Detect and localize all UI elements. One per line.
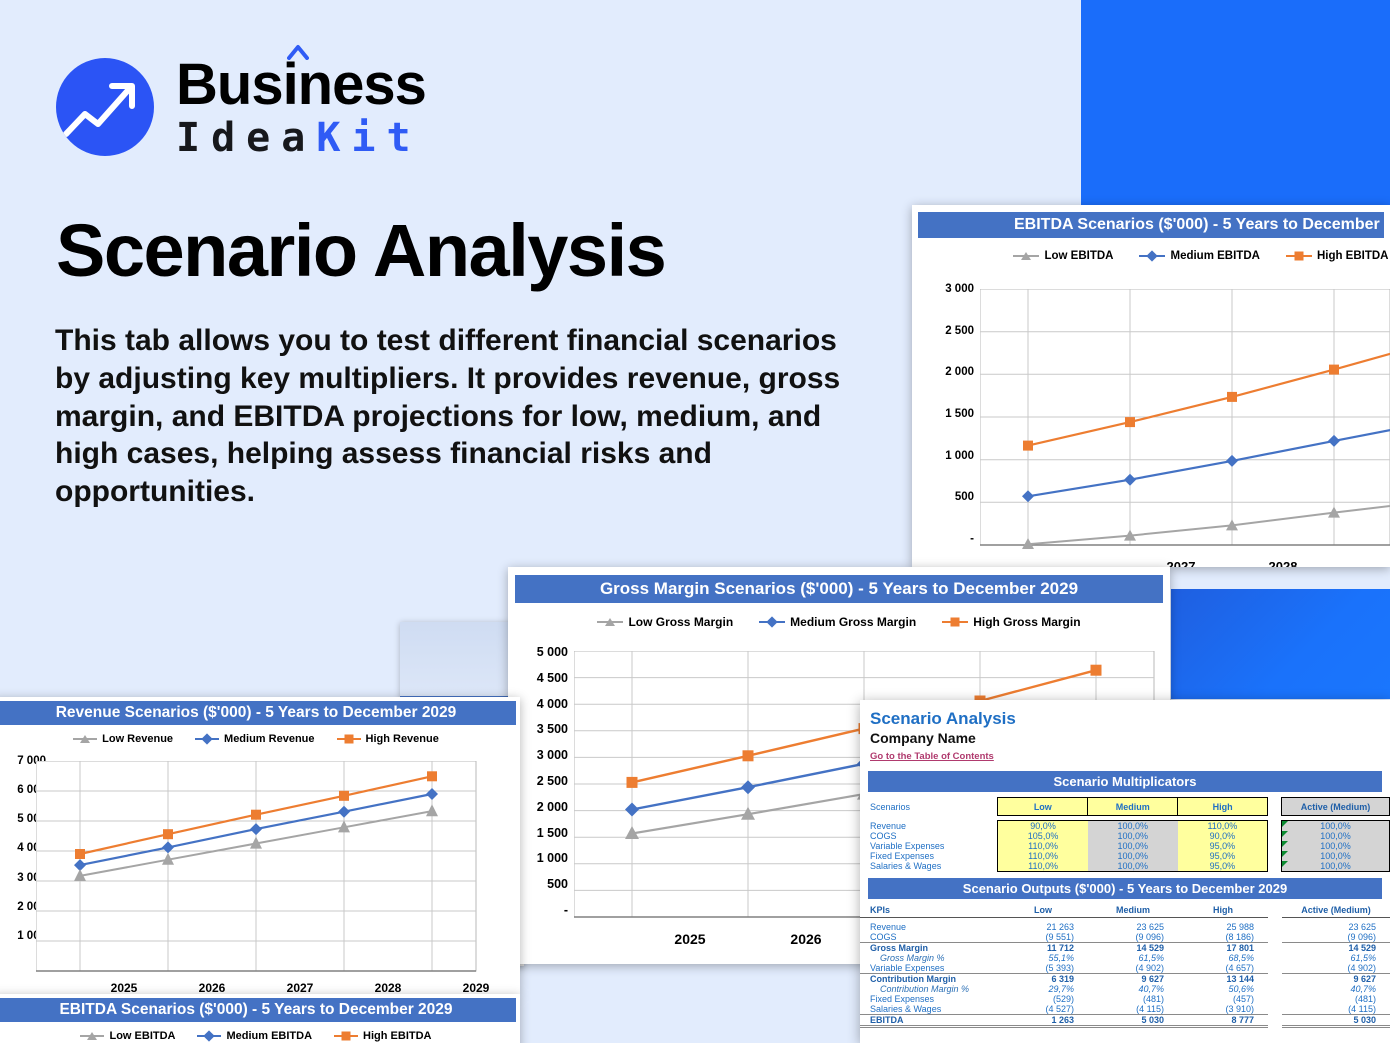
output-variable-expenses-medium: (4 902) [1088, 963, 1178, 974]
x-axis-ebitda-top: 2027 2028 [980, 559, 1390, 567]
multiplier-cogs-low[interactable]: 105,0% [998, 831, 1088, 841]
kpis-row-header: KPIs [860, 903, 998, 918]
decorative-blue-block-middle [1171, 589, 1390, 699]
table-row: EBITDA 1 263 5 030 8 777 5 030 [860, 1014, 1390, 1026]
output-column-header-medium: Medium [1088, 903, 1178, 918]
table-row: Fixed Expenses (529) (481) (457) (481) [860, 994, 1390, 1004]
table-row: Salaries & Wages (4 527) (4 115) (3 910)… [860, 1004, 1390, 1015]
output-salaries-wages-high: (3 910) [1178, 1004, 1268, 1015]
legend-label: Medium Revenue [224, 733, 314, 745]
page-description: This tab allows you to test different fi… [55, 322, 855, 511]
legend-label: Low EBITDA [109, 1030, 175, 1042]
output-revenue-high: 25 988 [1178, 922, 1268, 932]
output-contribution-margin-medium: 9 627 [1088, 973, 1178, 984]
y-axis-ebitda-top: 3 0002 500 2 0001 500 1 000500 - [918, 283, 974, 545]
output-revenue-active: 23 625 [1282, 922, 1390, 932]
output-cogs-active: (9 096) [1282, 932, 1390, 943]
multiplier-revenue-high[interactable]: 110,0% [1178, 821, 1268, 832]
output-ebitda-low: 1 263 [998, 1014, 1088, 1026]
output-label-ebitda: EBITDA [860, 1014, 998, 1026]
table-row: Fixed Expenses 110,0% 100,0% 95,0% 100,0… [860, 851, 1390, 861]
multiplier-variable-expenses-active: 100,0% [1282, 841, 1390, 851]
table-row: Gross Margin % 55,1% 61,5% 68,5% 61,5% [860, 953, 1390, 963]
multiplier-cogs-medium[interactable]: 100,0% [1088, 831, 1178, 841]
scenario-analysis-panel: Scenario Analysis Company Name Go to the… [860, 700, 1390, 1043]
output-label-revenue: Revenue [860, 922, 998, 932]
multiplier-fixed-expenses-active: 100,0% [1282, 851, 1390, 861]
scenario-multiplicators-table: Scenarios Low Medium High Active (Medium… [860, 797, 1390, 872]
output-ebitda-high: 8 777 [1178, 1014, 1268, 1026]
chart-legend-revenue: Low Revenue Medium Revenue High Revenue [0, 733, 520, 745]
table-row-header: KPIs Low Medium High Active (Medium) [860, 903, 1390, 918]
legend-label: Medium EBITDA [1170, 250, 1259, 262]
chart-legend-ebitda-bottom: Low EBITDA Medium EBITDA High EBITDA [0, 1030, 520, 1042]
row-label-fixed-expenses: Fixed Expenses [860, 851, 998, 861]
brand-logo: Business IdeaKit [56, 56, 426, 158]
multiplier-fixed-expenses-high[interactable]: 95,0% [1178, 851, 1268, 861]
plot-area-revenue: 7 0006 000 5 0004 000 3 0002 000 1 000- [0, 749, 520, 994]
multiplier-salaries-wages-medium[interactable]: 100,0% [1088, 861, 1178, 872]
output-cogs-medium: (9 096) [1088, 932, 1178, 943]
brand-name-line1: Business [176, 52, 426, 117]
multiplier-cogs-high[interactable]: 90,0% [1178, 831, 1268, 841]
row-label-salaries-wages: Salaries & Wages [860, 861, 998, 872]
output-salaries-wages-active: (4 115) [1282, 1004, 1390, 1015]
brand-name-kit: Kit [316, 115, 421, 161]
output-gross-margin-pct-high: 68,5% [1178, 953, 1268, 963]
legend-label: High Gross Margin [973, 615, 1080, 629]
scenario-panel-company: Company Name [870, 730, 1390, 746]
output-label-cogs: COGS [860, 932, 998, 943]
multiplier-fixed-expenses-low[interactable]: 110,0% [998, 851, 1088, 861]
output-contribution-margin-pct-medium: 40,7% [1088, 984, 1178, 994]
output-cogs-low: (9 551) [998, 932, 1088, 943]
output-column-header-active: Active (Medium) [1282, 903, 1390, 918]
scenario-multiplicators-band: Scenario Multiplicators [868, 771, 1382, 792]
output-fixed-expenses-medium: (481) [1088, 994, 1178, 1004]
output-gross-margin-high: 17 801 [1178, 942, 1268, 953]
output-gross-margin-pct-active: 61,5% [1282, 953, 1390, 963]
legend-item-low-ebitda-bottom[interactable]: Low EBITDA [80, 1030, 175, 1042]
slide-canvas: Business IdeaKit Scenario Analysis This … [0, 0, 1390, 1043]
output-contribution-margin-pct-high: 50,6% [1178, 984, 1268, 994]
output-ebitda-active: 5 030 [1282, 1014, 1390, 1026]
output-variable-expenses-high: (4 657) [1178, 963, 1268, 974]
output-cogs-high: (8 186) [1178, 932, 1268, 943]
multiplier-variable-expenses-medium[interactable]: 100,0% [1088, 841, 1178, 851]
output-contribution-margin-pct-active: 40,7% [1282, 984, 1390, 994]
multiplier-variable-expenses-low[interactable]: 110,0% [998, 841, 1088, 851]
multiplier-revenue-medium[interactable]: 100,0% [1088, 821, 1178, 832]
output-label-variable-expenses: Variable Expenses [860, 963, 998, 974]
output-gross-margin-low: 11 712 [998, 942, 1088, 953]
output-variable-expenses-active: (4 902) [1282, 963, 1390, 974]
legend-label: High EBITDA [363, 1030, 431, 1042]
output-revenue-low: 21 263 [998, 922, 1088, 932]
output-salaries-wages-medium: (4 115) [1088, 1004, 1178, 1015]
table-of-contents-link[interactable]: Go to the Table of Contents [870, 751, 994, 762]
page-title: Scenario Analysis [56, 208, 665, 293]
scenario-outputs-table: KPIs Low Medium High Active (Medium) Rev… [860, 903, 1390, 1028]
row-label-revenue: Revenue [860, 821, 998, 832]
legend-item-medium-gross-margin[interactable]: Medium Gross Margin [759, 615, 916, 629]
output-salaries-wages-low: (4 527) [998, 1004, 1088, 1015]
y-axis-gross-margin: 5 0004 500 4 0003 500 3 0002 500 2 0001 … [512, 645, 568, 917]
scenario-outputs-band: Scenario Outputs ($'000) - 5 Years to De… [868, 878, 1382, 899]
chart-title-revenue: Revenue Scenarios ($'000) - 5 Years to D… [0, 701, 516, 725]
scenario-panel-title: Scenario Analysis [870, 709, 1390, 729]
background-panel-ghost [400, 622, 524, 700]
multiplier-revenue-low[interactable]: 90,0% [998, 821, 1088, 832]
output-column-header-low: Low [998, 903, 1088, 918]
output-contribution-margin-active: 9 627 [1282, 973, 1390, 984]
decorative-blue-block-top [1081, 0, 1390, 206]
chart-title-gross-margin: Gross Margin Scenarios ($'000) - 5 Years… [515, 575, 1163, 603]
table-row: Contribution Margin 6 319 9 627 13 144 9… [860, 973, 1390, 984]
table-row: COGS (9 551) (9 096) (8 186) (9 096) [860, 932, 1390, 943]
chart-panel-ebitda-top: EBITDA Scenarios ($'000) - 5 Years to De… [912, 205, 1390, 567]
legend-item-medium-ebitda[interactable]: Medium EBITDA [1139, 250, 1259, 262]
legend-label: Medium EBITDA [226, 1030, 312, 1042]
column-header-active: Active (Medium) [1282, 798, 1390, 816]
output-fixed-expenses-low: (529) [998, 994, 1088, 1004]
column-header-high[interactable]: High [1178, 798, 1268, 816]
legend-item-medium-ebitda-bottom[interactable]: Medium EBITDA [197, 1030, 312, 1042]
output-variable-expenses-low: (5 393) [998, 963, 1088, 974]
output-gross-margin-pct-medium: 61,5% [1088, 953, 1178, 963]
output-label-gross-margin: Gross Margin [860, 942, 998, 953]
column-header-medium[interactable]: Medium [1088, 798, 1178, 816]
output-label-contribution-margin: Contribution Margin [860, 973, 998, 984]
legend-item-low-gross-margin[interactable]: Low Gross Margin [597, 615, 733, 629]
table-row: Variable Expenses (5 393) (4 902) (4 657… [860, 963, 1390, 974]
multiplier-salaries-wages-high[interactable]: 95,0% [1178, 861, 1268, 872]
chart-title-ebitda-bottom: EBITDA Scenarios ($'000) - 5 Years to De… [0, 998, 516, 1022]
output-contribution-margin-pct-low: 29,7% [998, 984, 1088, 994]
table-row: COGS 105,0% 100,0% 90,0% 100,0% [860, 831, 1390, 841]
output-label-fixed-expenses: Fixed Expenses [860, 994, 998, 1004]
legend-label: Medium Gross Margin [790, 615, 916, 629]
table-row: Contribution Margin % 29,7% 40,7% 50,6% … [860, 984, 1390, 994]
multiplier-salaries-wages-low[interactable]: 110,0% [998, 861, 1088, 872]
output-revenue-medium: 23 625 [1088, 922, 1178, 932]
output-fixed-expenses-high: (457) [1178, 994, 1268, 1004]
table-row-header: Scenarios Low Medium High Active (Medium… [860, 798, 1390, 816]
chart-title-ebitda-top: EBITDA Scenarios ($'000) - 5 Years to De… [918, 212, 1384, 238]
multiplier-cogs-active: 100,0% [1282, 831, 1390, 841]
output-label-salaries-wages: Salaries & Wages [860, 1004, 998, 1015]
legend-label: High EBITDA [1317, 250, 1389, 262]
row-label-variable-expenses: Variable Expenses [860, 841, 998, 851]
output-contribution-margin-low: 6 319 [998, 973, 1088, 984]
scenarios-row-header: Scenarios [860, 798, 998, 816]
legend-item-high-ebitda-bottom[interactable]: High EBITDA [334, 1030, 431, 1042]
table-row: Revenue 21 263 23 625 25 988 23 625 [860, 922, 1390, 932]
growth-arrow-icon [56, 58, 154, 156]
multiplier-fixed-expenses-medium[interactable]: 100,0% [1088, 851, 1178, 861]
output-gross-margin-pct-low: 55,1% [998, 953, 1088, 963]
chart-panel-ebitda-bottom: EBITDA Scenarios ($'000) - 5 Years to De… [0, 994, 520, 1043]
legend-label: Low EBITDA [1044, 250, 1113, 262]
legend-item-high-ebitda[interactable]: High EBITDA [1286, 250, 1389, 262]
circumflex-accent-icon [287, 44, 309, 60]
chart-legend-gross-margin: Low Gross Margin Medium Gross Margin Hig… [508, 615, 1170, 629]
table-row: Gross Margin 11 712 14 529 17 801 14 529 [860, 942, 1390, 953]
legend-label: Low Revenue [102, 733, 173, 745]
row-label-cogs: COGS [860, 831, 998, 841]
output-gross-margin-medium: 14 529 [1088, 942, 1178, 953]
table-row: Revenue 90,0% 100,0% 110,0% 100,0% [860, 821, 1390, 832]
legend-item-low-revenue[interactable]: Low Revenue [73, 733, 173, 745]
output-gross-margin-active: 14 529 [1282, 942, 1390, 953]
table-row: Variable Expenses 110,0% 100,0% 95,0% 10… [860, 841, 1390, 851]
output-label-gross-margin-pct: Gross Margin % [860, 953, 998, 963]
chart-legend-ebitda-top: Low EBITDA Medium EBITDA High EBITDA [912, 250, 1390, 262]
x-axis-revenue: 2025 2026 2027 2028 2029 [36, 981, 476, 994]
column-header-low[interactable]: Low [998, 798, 1088, 816]
output-column-header-high: High [1178, 903, 1268, 918]
legend-label: Low Gross Margin [628, 615, 733, 629]
legend-item-low-ebitda[interactable]: Low EBITDA [1013, 250, 1113, 262]
plot-area-ebitda-top: 3 0002 500 2 0001 500 1 000500 - [912, 283, 1390, 567]
legend-label: High Revenue [366, 733, 439, 745]
legend-item-medium-revenue[interactable]: Medium Revenue [195, 733, 314, 745]
output-ebitda-medium: 5 030 [1088, 1014, 1178, 1026]
legend-item-high-gross-margin[interactable]: High Gross Margin [942, 615, 1080, 629]
multiplier-salaries-wages-active: 100,0% [1282, 861, 1390, 872]
multiplier-revenue-active: 100,0% [1282, 821, 1390, 832]
output-fixed-expenses-active: (481) [1282, 994, 1390, 1004]
brand-name-idea: Idea [176, 115, 316, 161]
legend-item-high-revenue[interactable]: High Revenue [337, 733, 439, 745]
chart-panel-revenue: Revenue Scenarios ($'000) - 5 Years to D… [0, 697, 520, 994]
table-row: Salaries & Wages 110,0% 100,0% 95,0% 100… [860, 861, 1390, 872]
output-contribution-margin-high: 13 144 [1178, 973, 1268, 984]
output-label-contribution-margin-pct: Contribution Margin % [860, 984, 998, 994]
multiplier-variable-expenses-high[interactable]: 95,0% [1178, 841, 1268, 851]
